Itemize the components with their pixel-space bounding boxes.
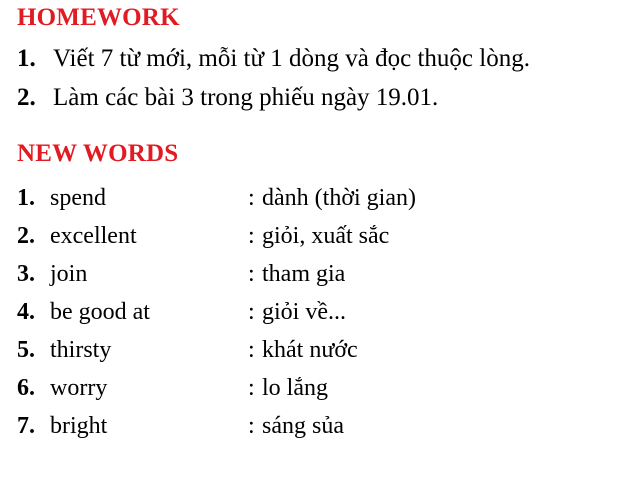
vocab-separator: : (248, 184, 262, 213)
lesson-slide: HOMEWORK 1. Viết 7 từ mới, mỗi từ 1 dòng… (0, 0, 638, 481)
vocab-number: 1. (17, 184, 50, 213)
vocab-number: 7. (17, 412, 50, 441)
vocab-number: 3. (17, 260, 50, 289)
vocab-separator: : (248, 222, 262, 251)
vocab-separator: : (248, 336, 262, 365)
vocab-word: thirsty (50, 336, 248, 365)
homework-item-number: 1. (17, 44, 53, 74)
vocab-meaning: tham gia (262, 260, 345, 289)
vocab-number: 5. (17, 336, 50, 365)
vocab-word: excellent (50, 222, 248, 251)
vocab-separator: : (248, 260, 262, 289)
vocab-word: spend (50, 184, 248, 213)
vocab-row: 4. be good at : giỏi về... (0, 298, 638, 336)
vocab-number: 6. (17, 374, 50, 403)
vocab-separator: : (248, 374, 262, 403)
vocab-row: 1. spend : dành (thời gian) (0, 184, 638, 222)
vocab-meaning: giỏi về... (262, 298, 346, 327)
vocab-word: join (50, 260, 248, 289)
vocab-word: worry (50, 374, 248, 403)
vocab-word: be good at (50, 298, 248, 327)
homework-list: 1. Viết 7 từ mới, mỗi từ 1 dòng và đọc t… (0, 44, 638, 122)
vocab-row: 2. excellent : giỏi, xuất sắc (0, 222, 638, 260)
vocab-meaning: giỏi, xuất sắc (262, 222, 389, 251)
vocab-row: 7. bright : sáng sủa (0, 412, 638, 450)
new-words-list: 1. spend : dành (thời gian) 2. excellent… (0, 184, 638, 450)
vocab-number: 4. (17, 298, 50, 327)
vocab-meaning: khát nước (262, 336, 358, 365)
vocab-separator: : (248, 412, 262, 441)
homework-item: 2. Làm các bài 3 trong phiếu ngày 19.01. (0, 83, 638, 122)
vocab-meaning: sáng sủa (262, 412, 344, 441)
vocab-meaning: lo lắng (262, 374, 328, 403)
new-words-section-heading: NEW WORDS (17, 140, 178, 168)
vocab-meaning: dành (thời gian) (262, 184, 416, 213)
homework-item-text: Viết 7 từ mới, mỗi từ 1 dòng và đọc thuộ… (53, 44, 530, 74)
homework-item-text: Làm các bài 3 trong phiếu ngày 19.01. (53, 83, 438, 113)
homework-item: 1. Viết 7 từ mới, mỗi từ 1 dòng và đọc t… (0, 44, 638, 83)
homework-item-number: 2. (17, 83, 53, 113)
vocab-separator: : (248, 298, 262, 327)
vocab-word: bright (50, 412, 248, 441)
vocab-row: 6. worry : lo lắng (0, 374, 638, 412)
vocab-row: 5. thirsty : khát nước (0, 336, 638, 374)
vocab-row: 3. join : tham gia (0, 260, 638, 298)
homework-section-heading: HOMEWORK (17, 4, 180, 32)
vocab-number: 2. (17, 222, 50, 251)
